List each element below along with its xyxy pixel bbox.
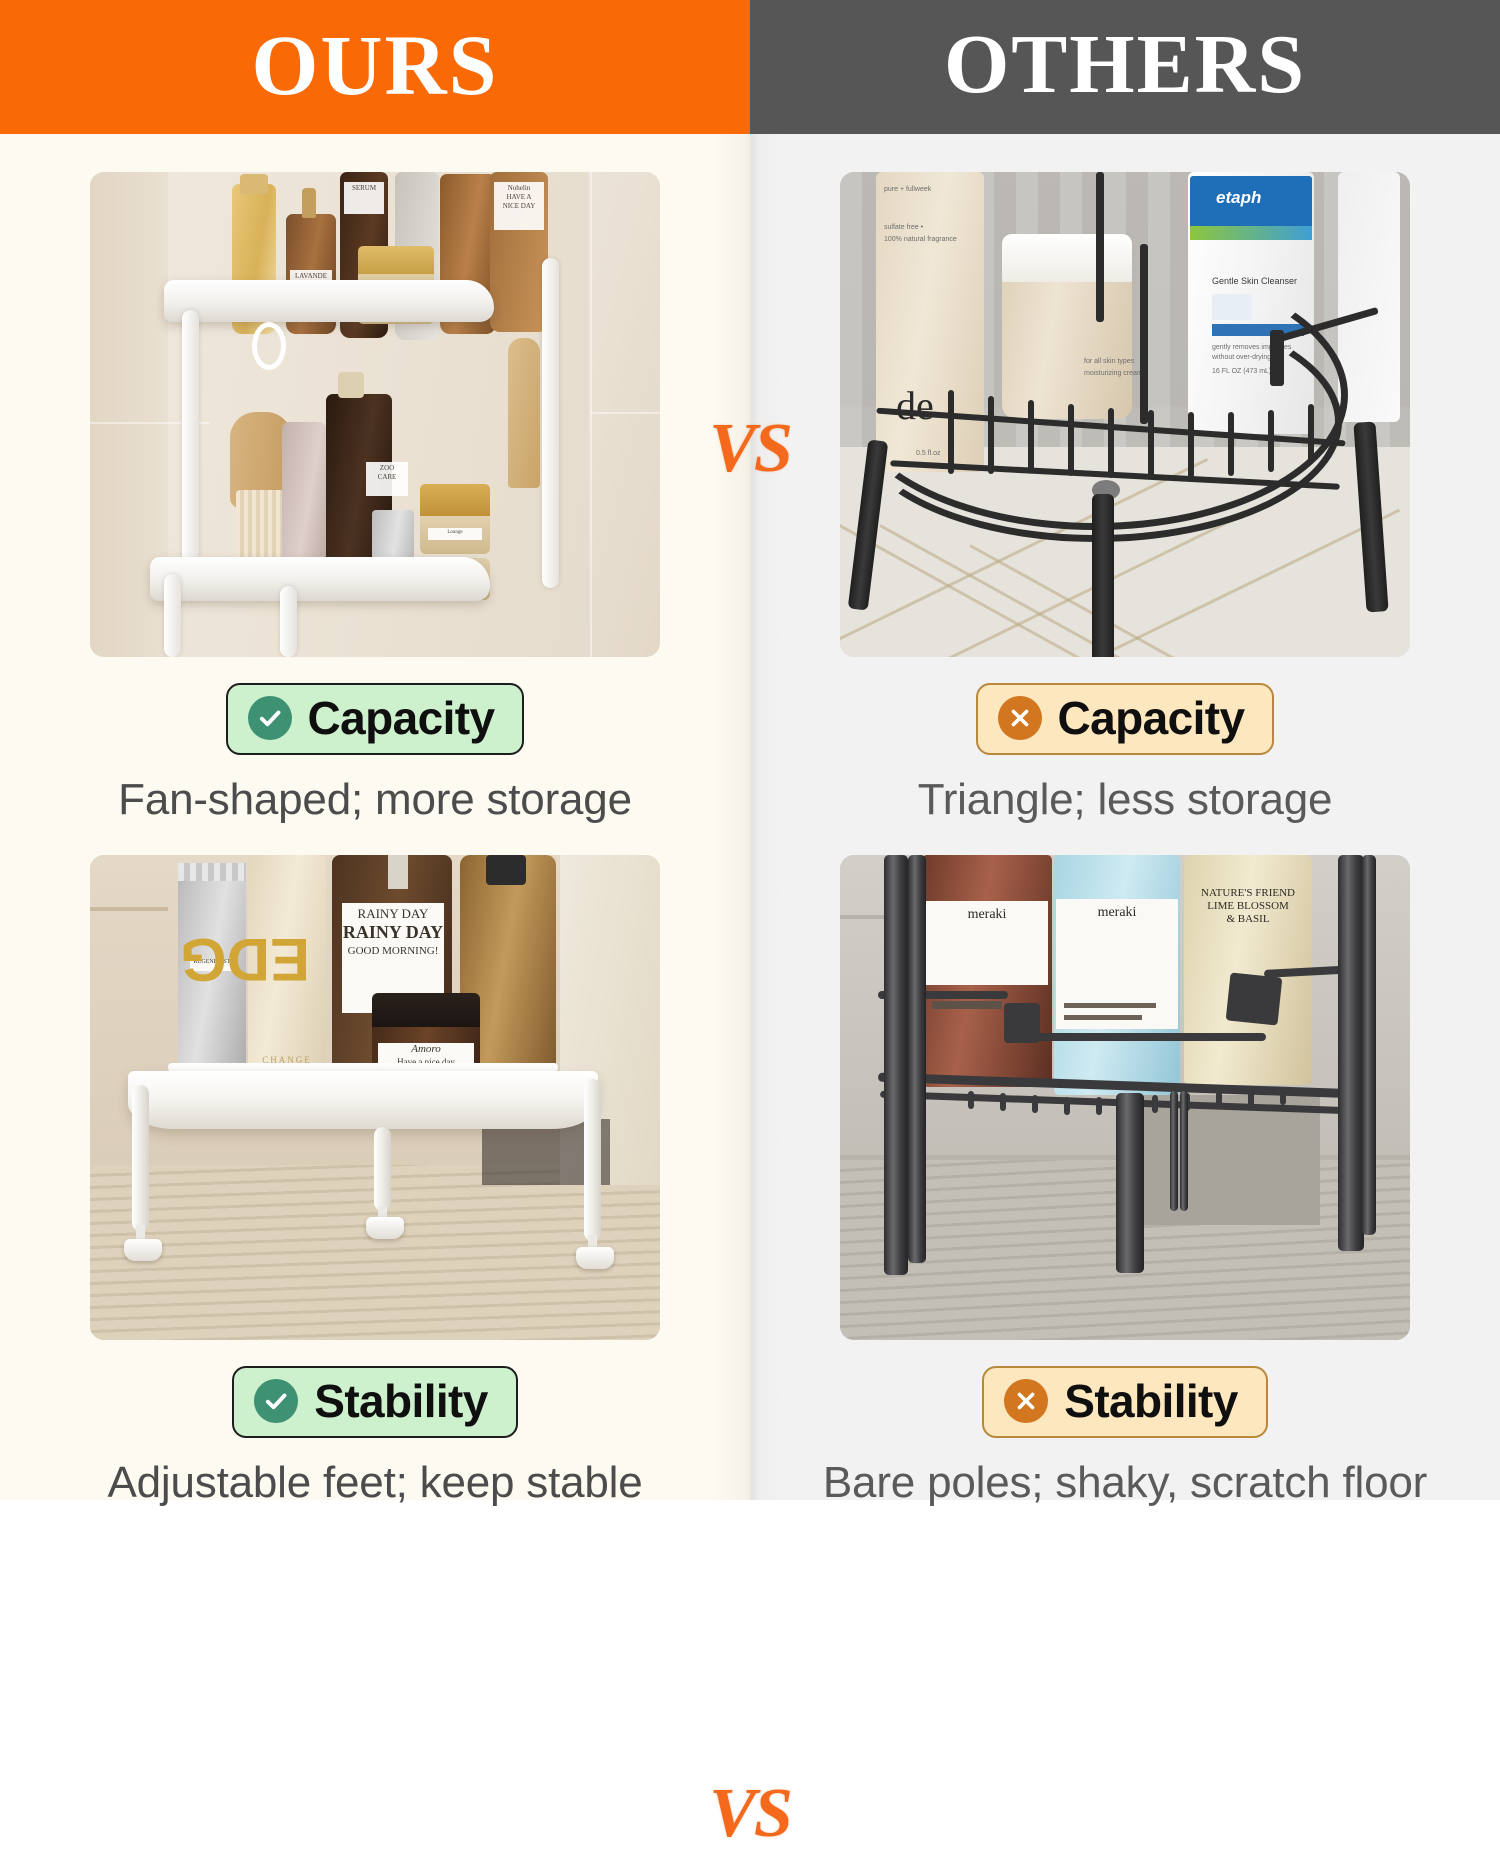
cell-others-capacity: pure + fullweek sulfate free • 100% natu… [750,134,1500,817]
vs-divider-bottom: VS [709,1779,791,1849]
photo-ours-stability: REGENERIST EDG CHANGE RAINY DAYRAINY DAY… [90,855,660,1340]
x-circle-icon [998,696,1042,740]
header-others-title: OTHERS [944,23,1306,107]
check-circle-icon [248,696,292,740]
badge-ours-capacity: Capacity [226,683,525,755]
photo-others-stability: meraki meraki NATURE'S FRIENDLIME BLOSSO… [840,855,1410,1340]
vs-divider-top: VS [709,414,791,484]
header-others: OTHERS [750,0,1500,134]
cell-ours-capacity: LAVANDE SERUM REGENERIST NohelinHAVE ANI… [0,134,750,817]
comparison-grid: LAVANDE SERUM REGENERIST NohelinHAVE ANI… [0,134,1500,1500]
caption-others-stability: Bare poles; shaky, scratch floor [823,1458,1427,1509]
header-ours-title: OURS [252,22,499,108]
badge-others-stability-label: Stability [1064,1378,1238,1424]
badge-ours-stability: Stability [232,1366,518,1438]
badge-others-capacity: Capacity [976,683,1275,755]
header-ours: OURS [0,0,750,134]
header-bar: OURS OTHERS [0,0,1500,134]
badge-ours-stability-label: Stability [314,1378,488,1424]
badge-others-stability: Stability [982,1366,1268,1438]
check-circle-icon [254,1379,298,1423]
x-circle-icon [1004,1379,1048,1423]
cell-ours-stability: REGENERIST EDG CHANGE RAINY DAYRAINY DAY… [0,817,750,1500]
photo-ours-capacity: LAVANDE SERUM REGENERIST NohelinHAVE ANI… [90,172,660,657]
comparison-row-capacity: LAVANDE SERUM REGENERIST NohelinHAVE ANI… [0,134,1500,817]
badge-ours-capacity-label: Capacity [308,695,495,741]
caption-ours-stability: Adjustable feet; keep stable [108,1458,643,1509]
photo-others-capacity: pure + fullweek sulfate free • 100% natu… [840,172,1410,657]
badge-others-capacity-label: Capacity [1058,695,1245,741]
comparison-infographic: OURS OTHERS [0,0,1500,1500]
cell-others-stability: meraki meraki NATURE'S FRIENDLIME BLOSSO… [750,817,1500,1500]
comparison-row-stability: REGENERIST EDG CHANGE RAINY DAYRAINY DAY… [0,817,1500,1500]
